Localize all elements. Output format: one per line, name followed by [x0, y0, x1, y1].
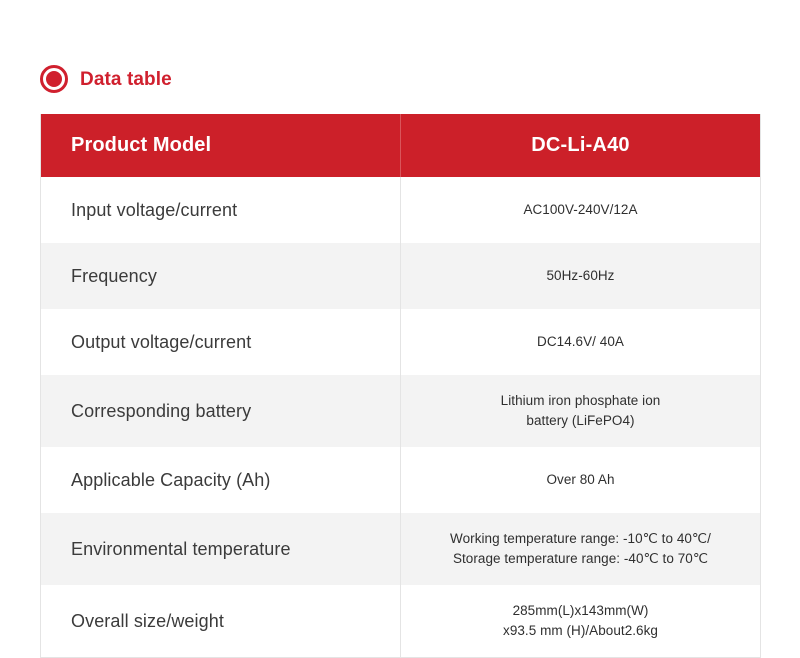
- circle-bullet-dot: [46, 71, 62, 87]
- spec-value: 285mm(L)x143mm(W)x93.5 mm (H)/About2.6kg: [401, 585, 761, 658]
- circle-bullet-icon: [40, 65, 68, 93]
- spec-value-line: DC14.6V/ 40A: [415, 332, 746, 352]
- spec-label: Input voltage/current: [41, 177, 401, 243]
- table-row: Frequency50Hz-60Hz: [41, 243, 761, 309]
- section-heading: Data table: [40, 62, 172, 96]
- table-row: Overall size/weight285mm(L)x143mm(W)x93.…: [41, 585, 761, 658]
- spec-label: Output voltage/current: [41, 309, 401, 375]
- spec-label: Corresponding battery: [41, 375, 401, 447]
- spec-value-line: 285mm(L)x143mm(W): [415, 601, 746, 621]
- page-title: Data table: [80, 70, 172, 89]
- column-header-model-value: DC-Li-A40: [401, 114, 761, 177]
- spec-value-line: battery (LiFePO4): [415, 411, 746, 431]
- spec-value: Over 80 Ah: [401, 447, 761, 513]
- spec-label: Environmental temperature: [41, 513, 401, 585]
- spec-value: Working temperature range: -10℃ to 40℃/S…: [401, 513, 761, 585]
- spec-value: Lithium iron phosphate ionbattery (LiFeP…: [401, 375, 761, 447]
- spec-label: Applicable Capacity (Ah): [41, 447, 401, 513]
- spec-value: 50Hz-60Hz: [401, 243, 761, 309]
- spec-label: Frequency: [41, 243, 401, 309]
- table-row: Input voltage/currentAC100V-240V/12A: [41, 177, 761, 243]
- table-body: Input voltage/currentAC100V-240V/12AFreq…: [41, 177, 761, 658]
- spec-label: Overall size/weight: [41, 585, 401, 658]
- table-row: Corresponding batteryLithium iron phosph…: [41, 375, 761, 447]
- spec-value-line: Lithium iron phosphate ion: [415, 391, 746, 411]
- spec-value-line: Working temperature range: -10℃ to 40℃/: [415, 529, 746, 549]
- spec-value-line: Over 80 Ah: [415, 470, 746, 490]
- spec-value: AC100V-240V/12A: [401, 177, 761, 243]
- spec-sheet-page: Data table Product Model DC-Li-A40 Input…: [0, 0, 800, 644]
- table-row: Applicable Capacity (Ah)Over 80 Ah: [41, 447, 761, 513]
- spec-value-line: AC100V-240V/12A: [415, 200, 746, 220]
- spec-value-line: x93.5 mm (H)/About2.6kg: [415, 621, 746, 641]
- specification-table: Product Model DC-Li-A40 Input voltage/cu…: [40, 114, 761, 658]
- spec-value-line: Storage temperature range: -40℃ to 70℃: [415, 549, 746, 569]
- table-header-row: Product Model DC-Li-A40: [41, 114, 761, 177]
- table-header: Product Model DC-Li-A40: [41, 114, 761, 177]
- spec-value: DC14.6V/ 40A: [401, 309, 761, 375]
- table-row: Output voltage/currentDC14.6V/ 40A: [41, 309, 761, 375]
- spec-value-line: 50Hz-60Hz: [415, 266, 746, 286]
- table-row: Environmental temperatureWorking tempera…: [41, 513, 761, 585]
- column-header-product-model: Product Model: [41, 114, 401, 177]
